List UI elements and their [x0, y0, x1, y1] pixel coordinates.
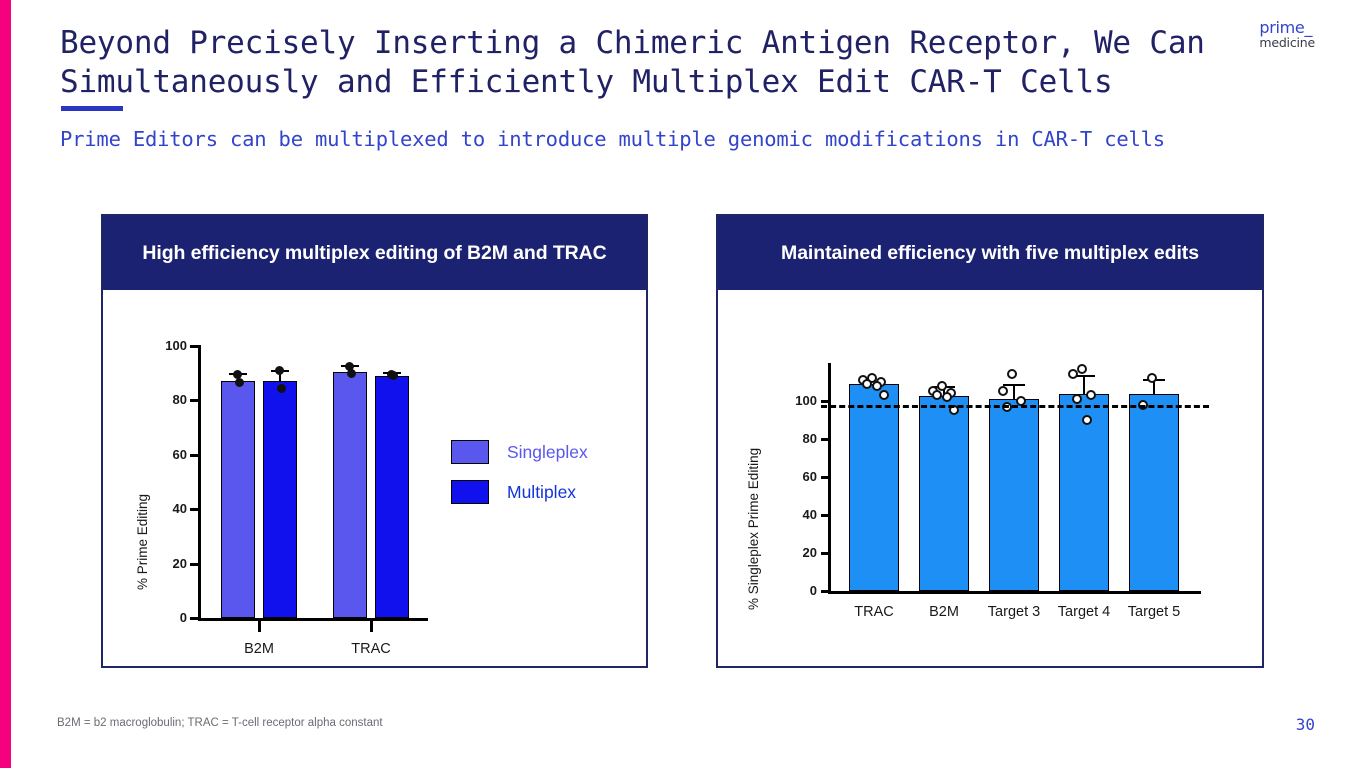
chart-right-data-point [1068, 369, 1078, 379]
chart-left-ytick [190, 345, 201, 348]
panel-right: Maintained efficiency with five multiple… [716, 214, 1264, 668]
chart-right-data-point [1077, 364, 1087, 374]
chart-right-ytick-label: 0 [773, 584, 817, 597]
chart-left-xaxis [198, 618, 428, 621]
chart-left-xtick [258, 621, 261, 632]
prime-medicine-logo: prime_ medicine [1259, 20, 1315, 50]
chart-left-ytick-label: 40 [139, 502, 187, 515]
legend-swatch-multiplex [451, 480, 489, 504]
chart-left-ytick-label: 60 [139, 448, 187, 461]
chart-left-ytick [190, 454, 201, 457]
chart-left-data-point [389, 371, 398, 380]
chart-right-ytick [821, 552, 831, 555]
chart-right-data-point [1147, 373, 1157, 383]
chart-left-bar[interactable] [263, 381, 297, 618]
chart-left-data-point [347, 369, 356, 378]
chart-left-ytick [190, 508, 201, 511]
chart-right-ytick-label: 60 [773, 470, 817, 483]
page-number: 30 [1296, 715, 1315, 734]
chart-left-yaxis [198, 345, 201, 618]
chart-left-data-point [235, 378, 244, 387]
chart-right-ytick-label: 20 [773, 546, 817, 559]
chart-left-data-point [277, 384, 286, 393]
logo-subtext: medicine [1259, 36, 1315, 50]
chart-right-ytick [821, 590, 831, 593]
panel-left: High efficiency multiplex editing of B2M… [101, 214, 648, 668]
legend-item-multiplex[interactable]: Multiplex [451, 480, 576, 504]
panel-left-body: % Prime Editing 020406080100 B2MTRAC Sin… [103, 290, 646, 666]
panel-right-title: Maintained efficiency with five multiple… [718, 216, 1262, 290]
legend-label-multiplex: Multiplex [507, 482, 576, 503]
chart-left-data-point [275, 366, 284, 375]
chart-right-ytick [821, 514, 831, 517]
chart-right-bar[interactable] [849, 384, 899, 591]
chart-left-bar[interactable] [333, 372, 367, 618]
legend-item-singleplex[interactable]: Singleplex [451, 440, 588, 464]
chart-right-ytick-label: 40 [773, 508, 817, 521]
panel-right-body: % Singleplex Prime Editing 020406080100 … [718, 290, 1262, 666]
chart-right-ytick [821, 438, 831, 441]
chart-left-xtick [370, 621, 373, 632]
panel-left-title: High efficiency multiplex editing of B2M… [103, 216, 646, 290]
chart-right-data-point [862, 379, 872, 389]
chart-right-data-point [998, 386, 1008, 396]
chart-right-bar[interactable] [989, 399, 1039, 591]
chart-right-bar[interactable] [919, 396, 969, 591]
chart-right-data-point [1082, 415, 1092, 425]
chart-right-xtick-label: Target 5 [1104, 605, 1204, 620]
title-underline [61, 106, 123, 111]
chart-right-ytick [821, 476, 831, 479]
chart-right-bar[interactable] [1129, 394, 1179, 591]
chart-left-bar[interactable] [221, 381, 255, 618]
chart-right-ytick-label: 100 [773, 394, 817, 407]
chart-right-reference-line [821, 405, 1209, 408]
chart-right-ytick [821, 400, 831, 403]
accent-bar [0, 0, 11, 768]
page-title: Beyond Precisely Inserting a Chimeric An… [60, 24, 1240, 102]
chart-left-ytick-label: 0 [139, 611, 187, 624]
footnote: B2M = b2 macroglobulin; TRAC = T-cell re… [57, 717, 383, 729]
chart-left-legend: Singleplex Multiplex [451, 440, 641, 530]
chart-left-ytick [190, 399, 201, 402]
chart-right-data-point [872, 381, 882, 391]
logo-wordmark: prime_ [1259, 20, 1315, 36]
chart-right-errorbar-cap [1003, 384, 1025, 386]
chart-left-ytick-label: 20 [139, 557, 187, 570]
chart-right-ytick-label: 80 [773, 432, 817, 445]
chart-left-bar[interactable] [375, 376, 409, 618]
page-subtitle: Prime Editors can be multiplexed to intr… [60, 122, 1270, 156]
slide: Beyond Precisely Inserting a Chimeric An… [0, 0, 1365, 768]
chart-right-data-point [1007, 369, 1017, 379]
chart-left-ytick-label: 80 [139, 393, 187, 406]
chart-left-ytick [190, 617, 201, 620]
chart-right-errorbar [1083, 375, 1085, 394]
chart-left-xtick-label: TRAC [316, 642, 426, 657]
chart-right-data-point [937, 381, 947, 391]
chart-right: % Singleplex Prime Editing 020406080100 … [718, 290, 1262, 666]
chart-right-xaxis [828, 591, 1201, 594]
chart-right-errorbar [1013, 384, 1015, 399]
chart-right-ylabel: % Singleplex Prime Editing [746, 448, 761, 610]
chart-left-ytick-label: 100 [139, 339, 187, 352]
chart-left-xtick-label: B2M [204, 642, 314, 657]
chart-right-data-point [1072, 394, 1082, 404]
chart-left-ytick [190, 563, 201, 566]
legend-swatch-singleplex [451, 440, 489, 464]
legend-label-singleplex: Singleplex [507, 442, 588, 463]
